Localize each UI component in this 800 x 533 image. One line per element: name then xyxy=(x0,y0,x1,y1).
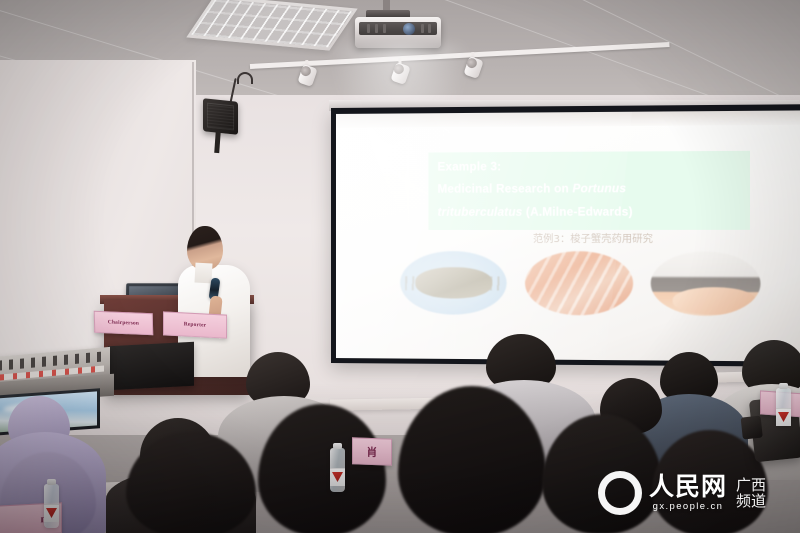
slide-subtitle: 范例3：梭子蟹壳药用研究 xyxy=(447,230,741,245)
presentation-slide: Example 3: Medicinal Research on Portunu… xyxy=(336,110,800,361)
name-card-chairperson: Chairperson xyxy=(94,311,154,336)
cooked-crabs-photo xyxy=(525,251,633,316)
spotlight-icon xyxy=(299,60,315,89)
presenter-collar xyxy=(194,263,212,284)
slide-image-row xyxy=(401,251,761,316)
water-bottle xyxy=(330,448,345,492)
slide-title-line-3: trituberculatus (A.Milne-Edwards) xyxy=(438,204,741,221)
wall-speaker xyxy=(203,98,238,135)
live-crab-photo xyxy=(401,251,507,315)
slide-title-line-1: Example 3: xyxy=(438,158,741,176)
slide-title-box: Example 3: Medicinal Research on Portunu… xyxy=(428,151,750,230)
name-card-reporter: Reporter xyxy=(163,311,227,338)
projection-screen-frame: Example 3: Medicinal Research on Portunu… xyxy=(331,104,800,367)
crab-shell-powder-photo xyxy=(651,251,761,316)
projection-screen: Example 3: Medicinal Research on Portunu… xyxy=(336,110,800,361)
water-bottle xyxy=(44,484,59,528)
slide-title-line-2: Medicinal Research on Portunus xyxy=(438,181,741,198)
conference-room-photo: Example 3: Medicinal Research on Portunu… xyxy=(0,0,800,533)
water-bottle xyxy=(776,388,791,426)
control-monitor xyxy=(108,342,194,391)
speaker-cable xyxy=(237,72,253,84)
name-card-audience-xiao: 肖 xyxy=(352,437,392,465)
